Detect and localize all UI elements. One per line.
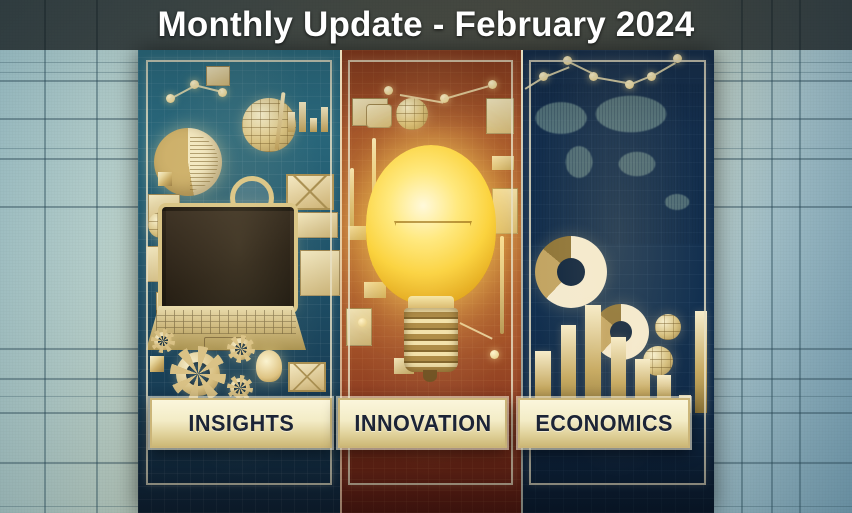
poster-canvas: INSIGHTS INNOVATION ECONOMICS Monthly Up… [0,0,852,513]
plaque-label: INNOVATION [354,410,491,437]
hero-artwork: INSIGHTS INNOVATION ECONOMICS [138,50,714,513]
page-title: Monthly Update - February 2024 [158,5,695,45]
plaque-label: ECONOMICS [535,410,673,437]
header-banner: Monthly Update - February 2024 [0,0,852,50]
plaque-economics[interactable]: ECONOMICS [518,398,690,448]
plaque-label: INSIGHTS [188,410,294,437]
plaque-insights[interactable]: INSIGHTS [150,398,332,448]
plaque-innovation[interactable]: INNOVATION [338,398,507,448]
